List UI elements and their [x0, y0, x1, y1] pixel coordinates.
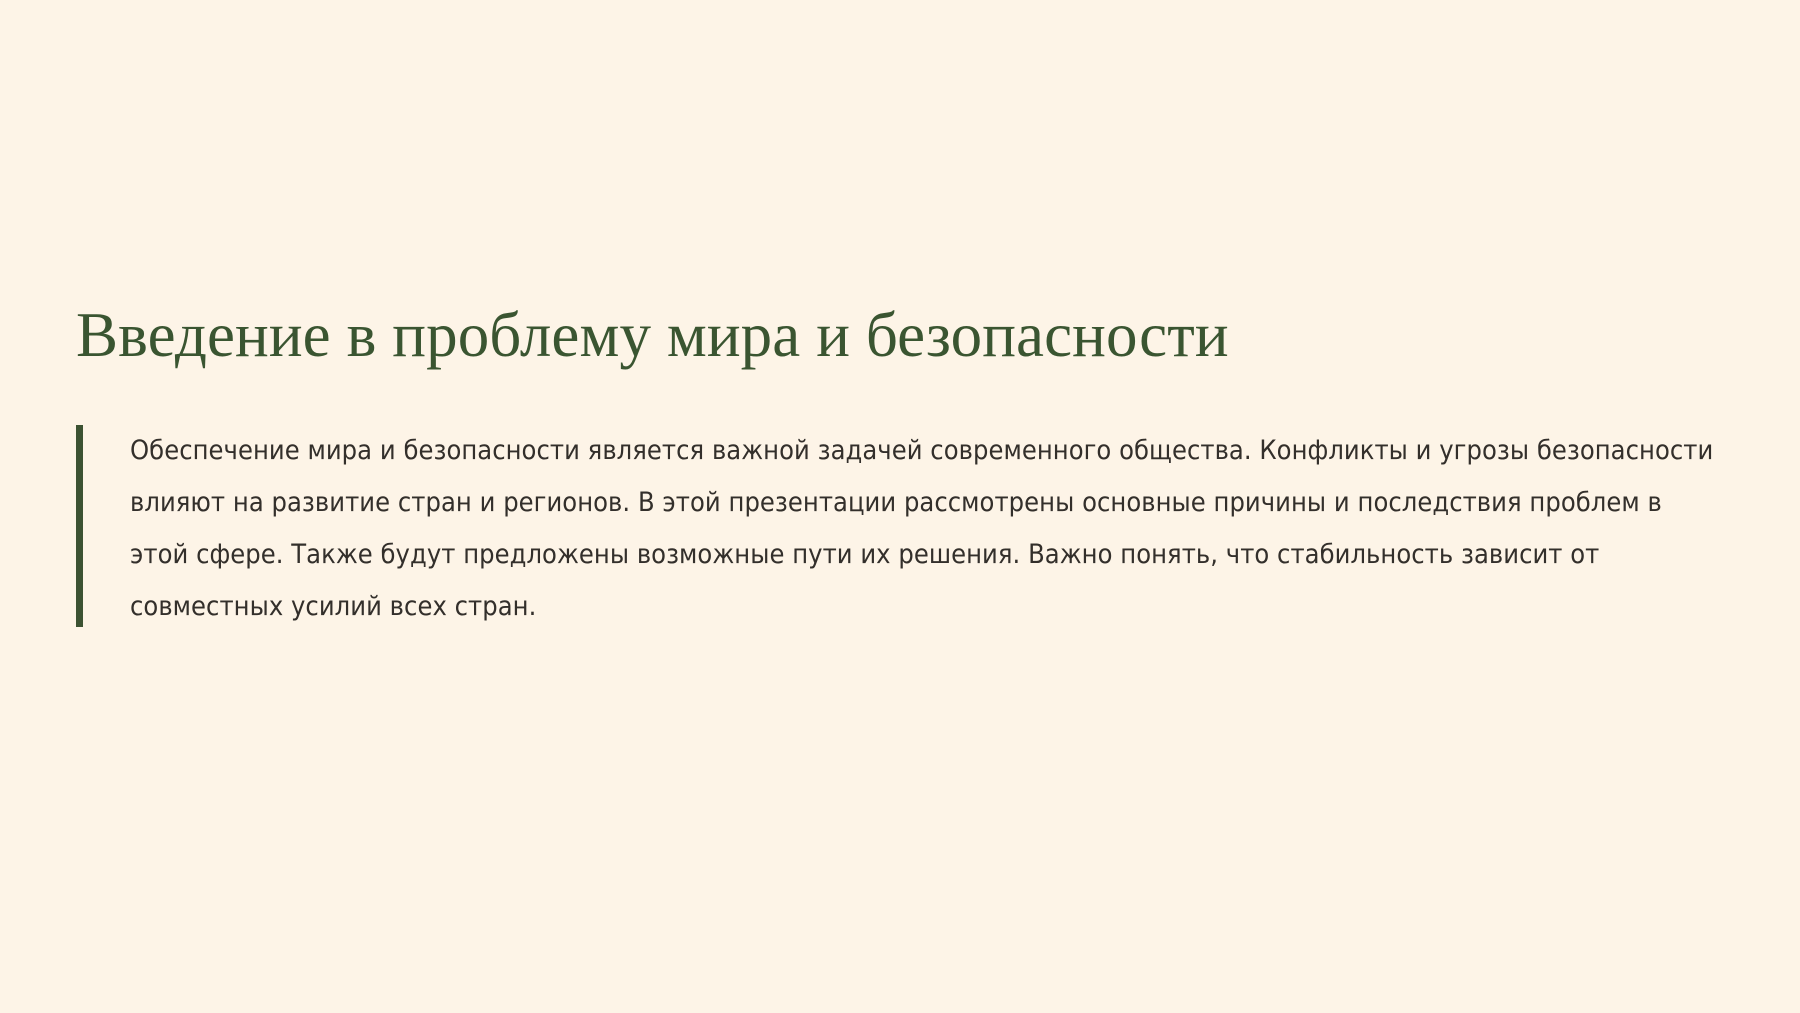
body-paragraph: Обеспечение мира и безопасности является…	[130, 425, 1716, 633]
slide-canvas: Введение в проблему мира и безопасности …	[0, 0, 1800, 1013]
page-title: Введение в проблему мира и безопасности	[76, 300, 1716, 372]
body-quote-block: Обеспечение мира и безопасности является…	[76, 425, 1716, 633]
slide-content: Введение в проблему мира и безопасности …	[76, 300, 1716, 633]
accent-bar	[76, 425, 83, 627]
